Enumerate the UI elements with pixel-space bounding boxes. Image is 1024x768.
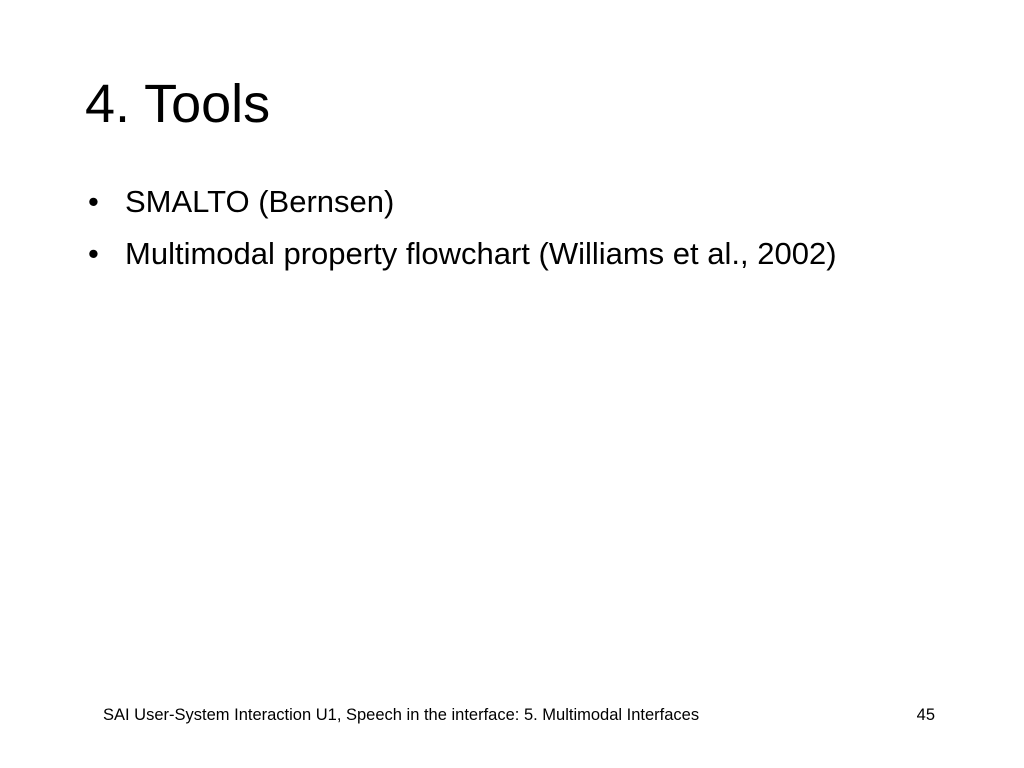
presentation-slide: 4. Tools • SMALTO (Bernsen) • Multimodal… bbox=[0, 0, 1024, 768]
bullet-list: • SMALTO (Bernsen) • Multimodal property… bbox=[85, 176, 965, 280]
bullet-item-label: Multimodal property flowchart (Williams … bbox=[125, 228, 837, 280]
footer-page-number: 45 bbox=[917, 704, 943, 726]
list-item: • Multimodal property flowchart (William… bbox=[85, 228, 965, 280]
bullet-point-icon: • bbox=[85, 176, 125, 228]
list-item: • SMALTO (Bernsen) bbox=[85, 176, 965, 228]
bullet-item-label: SMALTO (Bernsen) bbox=[125, 176, 394, 228]
page-title: 4. Tools bbox=[85, 73, 270, 135]
slide-footer: SAI User-System Interaction U1, Speech i… bbox=[103, 704, 943, 726]
footer-course-label: SAI User-System Interaction U1, Speech i… bbox=[103, 704, 699, 726]
bullet-point-icon: • bbox=[85, 228, 125, 280]
